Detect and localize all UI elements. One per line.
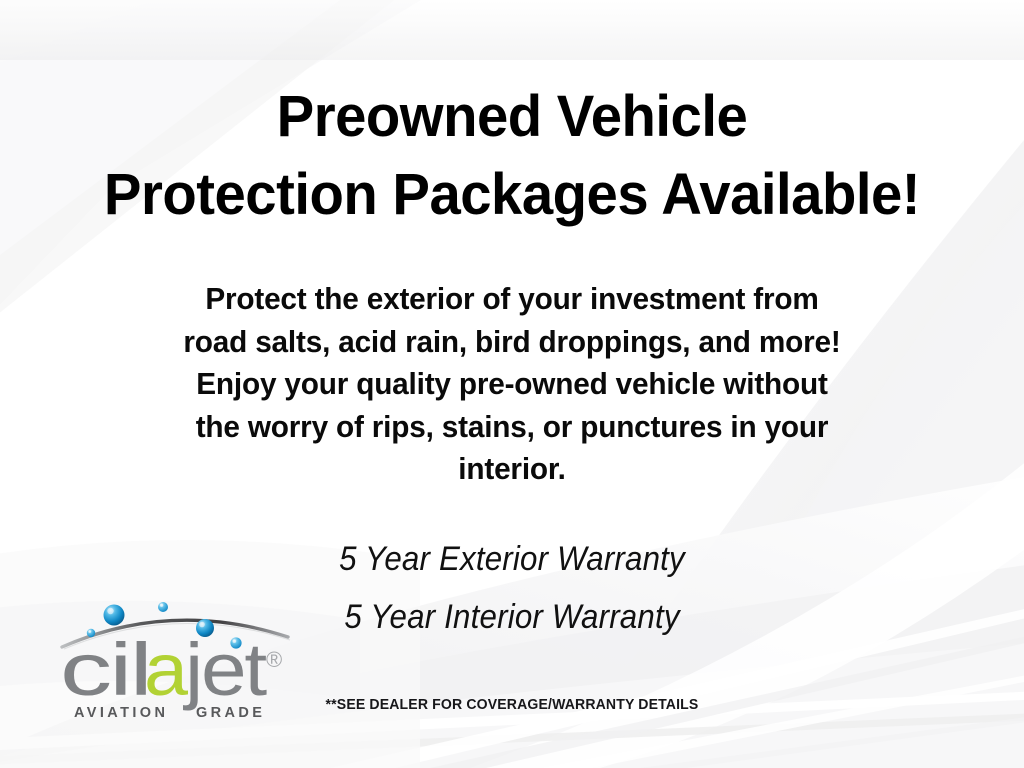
logo-bubble-large-left [104,605,125,626]
cilajet-logo: cil a jet ® AVIATION GRADE [60,585,295,720]
slide-canvas: Preowned Vehicle Protection Packages Ava… [0,0,1024,768]
logo-tagline-grade: GRADE [196,705,265,720]
logo-bubble-small-upper [158,602,168,612]
logo-wordmark-cil: cil [60,628,150,711]
logo-registered-mark: ® [266,647,282,672]
warranty-exterior: 5 Year Exterior Warranty [41,530,983,588]
logo-wordmark-a-accent: a [144,628,189,711]
body-copy: Protect the exterior of your investment … [20,278,1003,491]
logo-tagline-aviation: AVIATION [74,705,168,720]
logo-wordmark-jet: jet [183,628,268,711]
page-title: Preowned Vehicle Protection Packages Ava… [15,78,1008,234]
